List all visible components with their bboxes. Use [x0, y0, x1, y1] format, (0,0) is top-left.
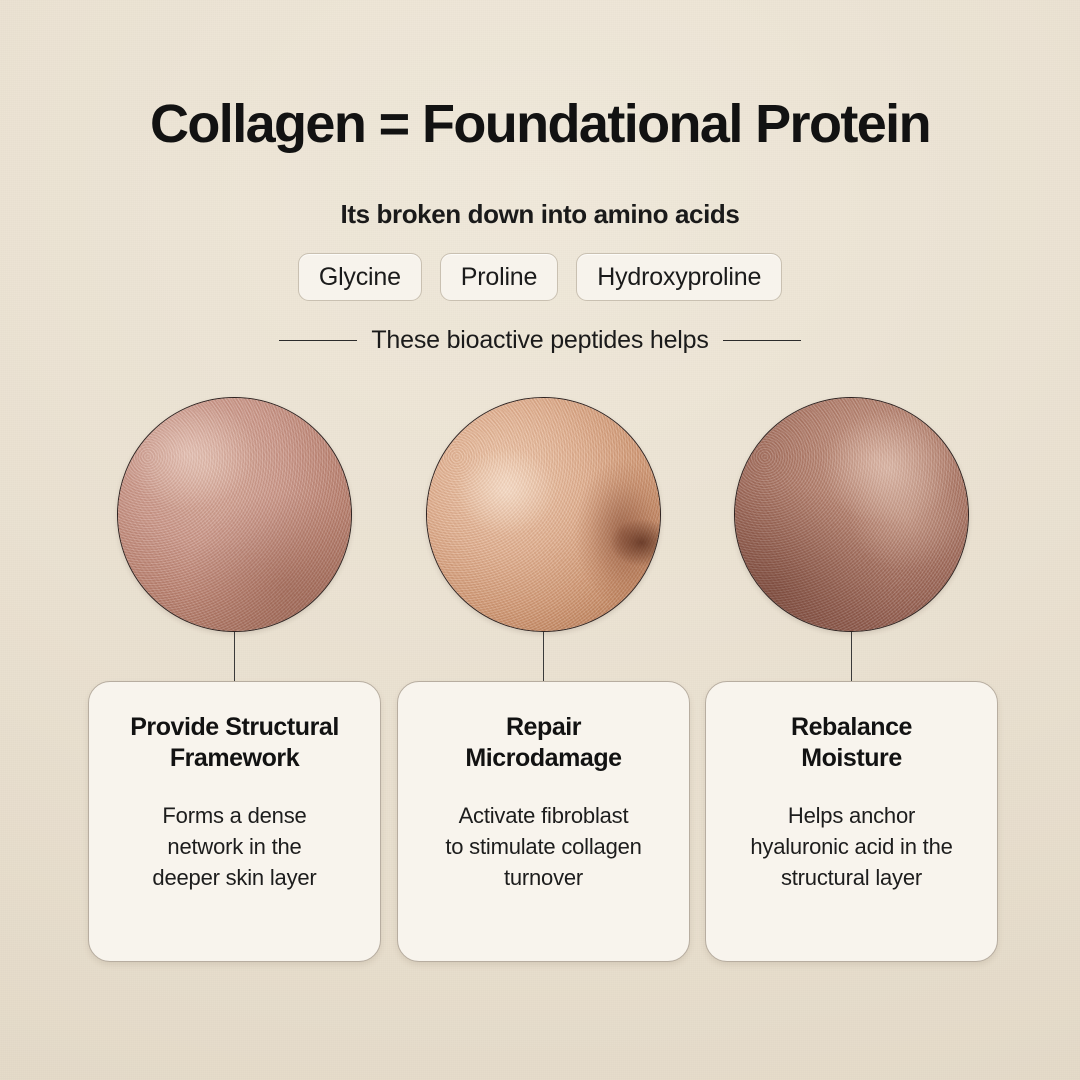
- benefit-card: Repair Microdamage Activate fibroblast t…: [397, 681, 690, 962]
- page-title: Collagen = Foundational Protein: [0, 96, 1080, 153]
- chip-glycine: Glycine: [298, 253, 422, 301]
- benefit-card-body: Activate fibroblast to stimulate collage…: [445, 800, 641, 894]
- connector-line: [543, 632, 544, 681]
- skin-photo-wrap: [426, 397, 661, 632]
- benefit-card-title: Provide Structural Framework: [130, 712, 339, 775]
- connector-line: [234, 632, 235, 681]
- benefit-column-structural-framework: Provide Structural Framework Forms a den…: [88, 397, 381, 632]
- benefit-card-body: Forms a dense network in the deeper skin…: [152, 800, 316, 894]
- amino-acid-chip-row: Glycine Proline Hydroxyproline: [0, 253, 1080, 301]
- skin-macro-cheek-closeup-image: [117, 397, 352, 632]
- benefit-card: Provide Structural Framework Forms a den…: [88, 681, 381, 962]
- chip-label: Hydroxyproline: [597, 263, 761, 292]
- skin-macro-forehead-closeup-image: [734, 397, 969, 632]
- skin-photo-wrap: [734, 397, 969, 632]
- benefit-card: Rebalance Moisture Helps anchor hyaluron…: [705, 681, 998, 962]
- chip-hydroxyproline: Hydroxyproline: [576, 253, 782, 301]
- connector-line: [851, 632, 852, 681]
- benefit-card-title: Repair Microdamage: [465, 712, 621, 775]
- divider-label: These bioactive peptides helps: [371, 326, 708, 355]
- benefit-column-rebalance-moisture: Rebalance Moisture Helps anchor hyaluron…: [705, 397, 998, 632]
- divider-rule-left: [279, 340, 357, 341]
- skin-photo-wrap: [117, 397, 352, 632]
- chip-proline: Proline: [440, 253, 558, 301]
- infographic-canvas: Collagen = Foundational Protein Its brok…: [0, 0, 1080, 1080]
- benefit-columns: Provide Structural Framework Forms a den…: [0, 397, 1080, 997]
- skin-macro-nose-closeup-image: [426, 397, 661, 632]
- chip-label: Glycine: [319, 263, 401, 292]
- page-subtitle: Its broken down into amino acids: [0, 199, 1080, 230]
- benefit-card-title: Rebalance Moisture: [791, 712, 912, 775]
- benefit-card-body: Helps anchor hyaluronic acid in the stru…: [750, 800, 952, 894]
- benefit-column-repair-microdamage: Repair Microdamage Activate fibroblast t…: [397, 397, 690, 632]
- chip-label: Proline: [461, 263, 537, 292]
- section-divider: These bioactive peptides helps: [0, 326, 1080, 355]
- divider-rule-right: [723, 340, 801, 341]
